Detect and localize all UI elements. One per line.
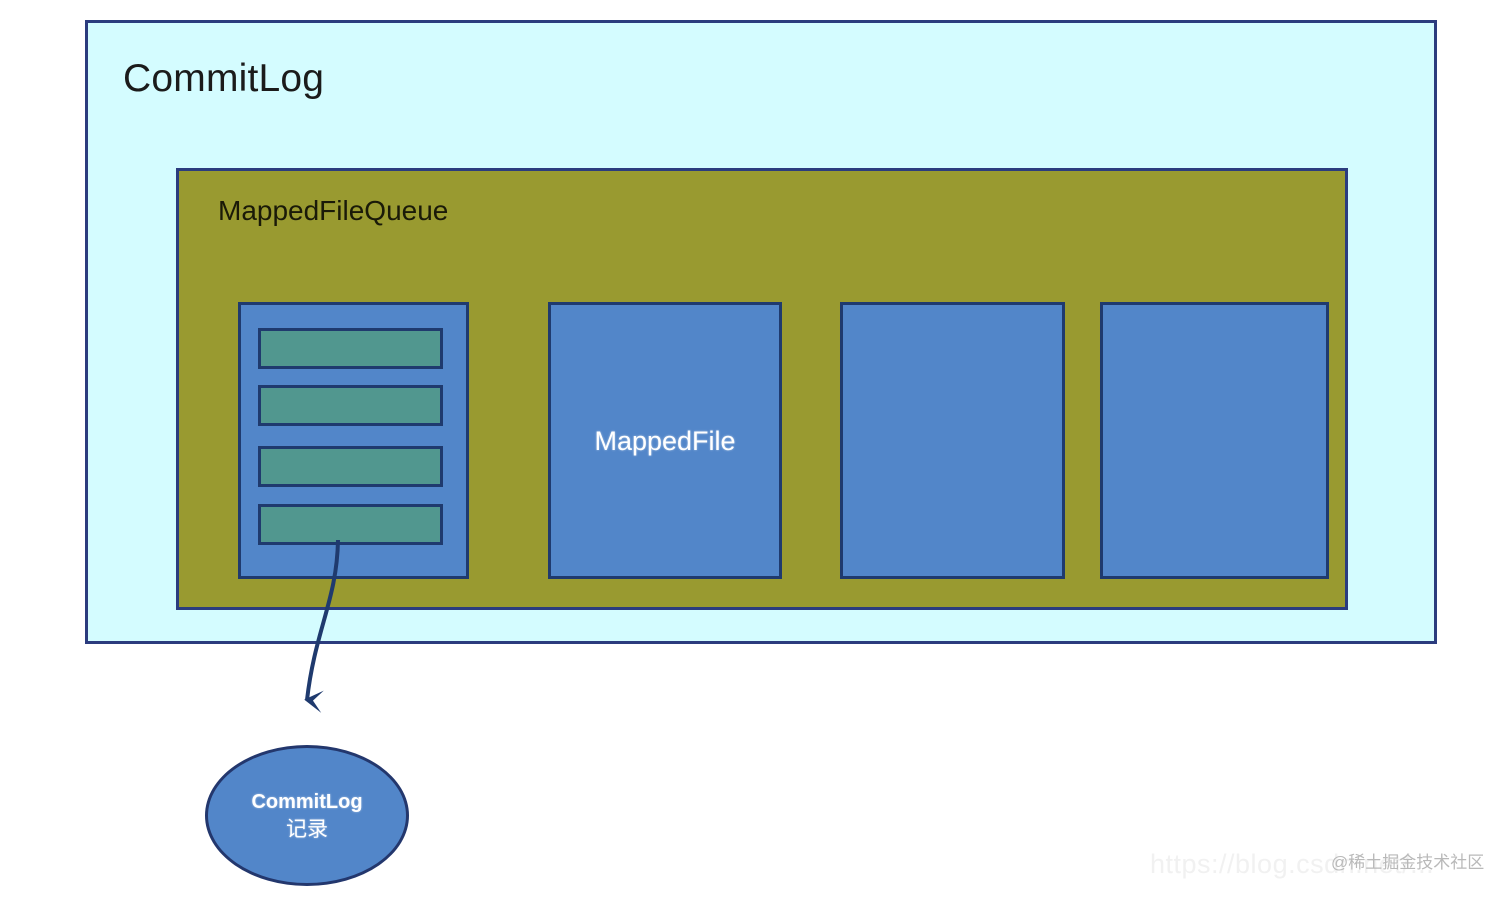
- record-bar[interactable]: [258, 446, 443, 487]
- node-label-line2: 记录: [286, 816, 328, 843]
- node-label-line1: CommitLog: [251, 789, 362, 816]
- mappedfilequeue-container: MappedFileQueue MappedFile: [176, 168, 1348, 610]
- mapped-file-box-4[interactable]: [1100, 302, 1329, 579]
- mapped-file-box-1[interactable]: [238, 302, 469, 579]
- mapped-file-label: MappedFile: [551, 425, 779, 457]
- mapped-file-row: MappedFile: [179, 171, 1345, 607]
- diagram-canvas: CommitLog MappedFileQueue MappedFile: [0, 0, 1512, 898]
- watermark-brand: @稀土掘金技术社区: [1331, 852, 1484, 874]
- record-bar[interactable]: [258, 328, 443, 369]
- record-bar[interactable]: [258, 385, 443, 426]
- commitlog-container: CommitLog MappedFileQueue MappedFile: [85, 20, 1437, 644]
- commitlog-title: CommitLog: [123, 56, 324, 102]
- mapped-file-box-2[interactable]: MappedFile: [548, 302, 782, 579]
- record-bar[interactable]: [258, 504, 443, 545]
- mapped-file-box-3[interactable]: [840, 302, 1065, 579]
- commitlog-record-node[interactable]: CommitLog 记录: [205, 745, 409, 886]
